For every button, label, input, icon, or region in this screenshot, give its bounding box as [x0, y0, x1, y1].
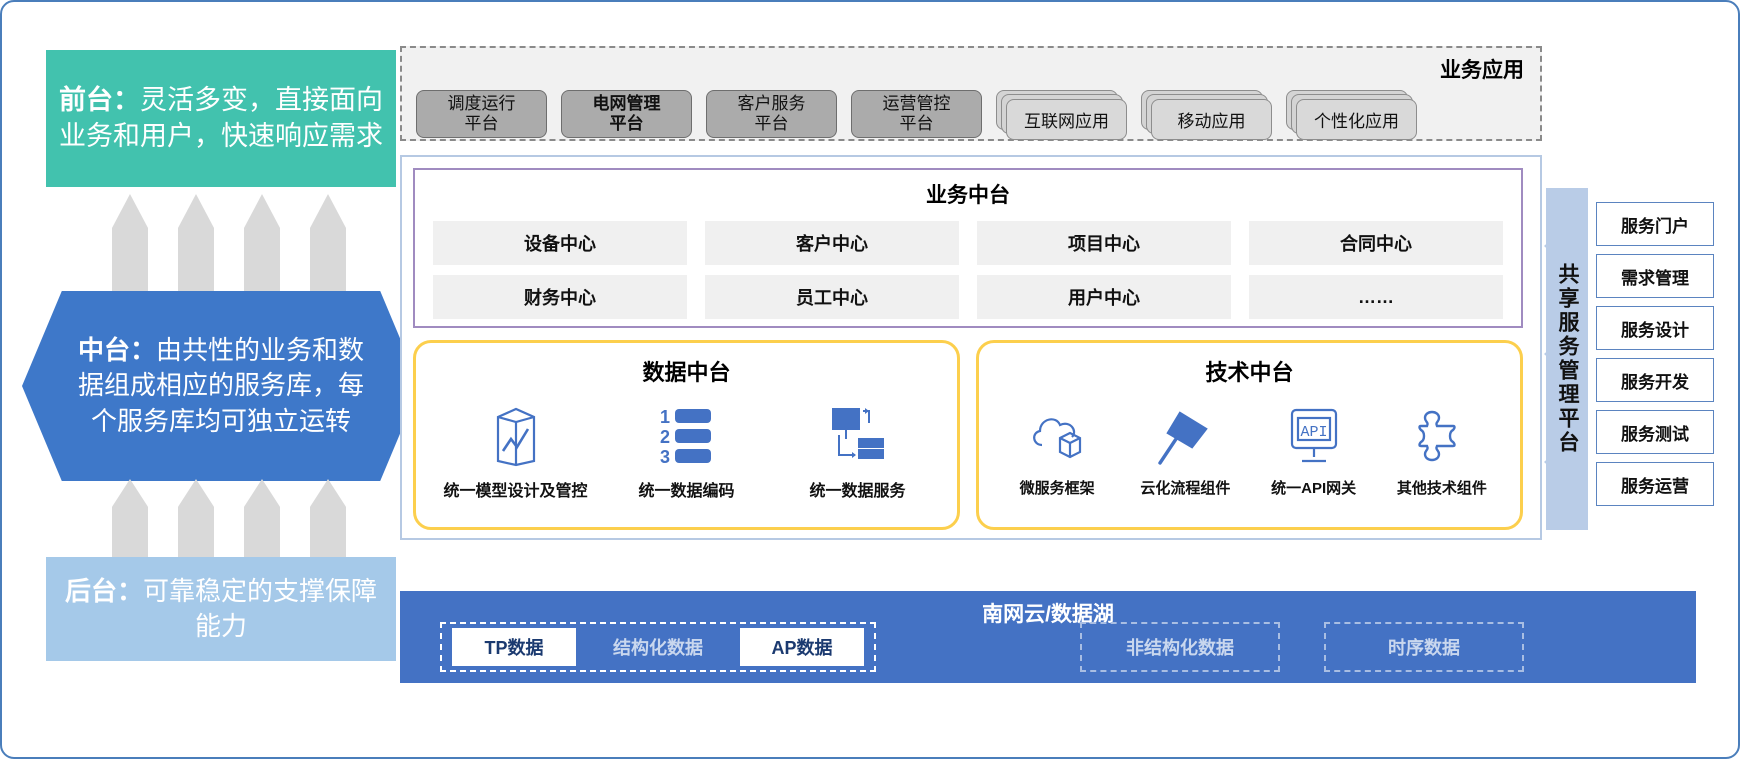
tech-item-process[interactable]: 云化流程组件: [1128, 401, 1243, 498]
up-arrow-icon: [244, 479, 280, 561]
left-column: 前台：灵活多变，直接面向业务和用户，快速响应需求 中台：由共性的业务和数据组成相…: [46, 42, 396, 722]
app-chip-line2: 平台: [593, 114, 661, 134]
data-middle-title: 数据中台: [416, 355, 957, 387]
tech-item-label: 统一API网关: [1271, 477, 1356, 498]
stack-layer-front: 移动应用: [1151, 99, 1272, 140]
svg-text:1: 1: [660, 407, 670, 427]
up-arrow-icon: [310, 479, 346, 561]
tech-item-label: 云化流程组件: [1140, 477, 1230, 498]
front-stage-box: 前台：灵活多变，直接面向业务和用户，快速响应需求: [46, 50, 396, 187]
app-chip-line1: 调度运行: [448, 94, 516, 114]
shared-service-platform-label: 共享服务管理平台: [1552, 263, 1582, 455]
data-chip-ap[interactable]: AP数据: [740, 628, 864, 666]
up-arrow-icon: [244, 194, 280, 294]
back-stage-text: 可靠稳定的支撑保障能力: [143, 576, 377, 641]
numbered-list-icon: 1 2 3: [658, 401, 716, 471]
app-chip-dispatch[interactable]: 调度运行 平台: [416, 90, 547, 138]
app-chip-line2: 平台: [883, 114, 951, 134]
data-item-model[interactable]: 统一模型设计及管控: [451, 401, 581, 501]
data-item-label: 统一数据服务: [809, 477, 905, 501]
app-stack-mobile[interactable]: 移动应用: [1141, 90, 1272, 142]
back-stage-box: 后台：可靠稳定的支撑保障能力: [46, 557, 396, 661]
svg-text:3: 3: [660, 447, 670, 467]
biz-cell-more[interactable]: ……: [1249, 275, 1503, 319]
up-arrow-icon: [310, 194, 346, 294]
service-item-development[interactable]: 服务开发: [1596, 358, 1714, 402]
data-middle-card: 数据中台 统一模型设计及管控: [413, 340, 960, 530]
cloud-cube-icon: [1026, 401, 1088, 471]
shared-service-list: 服务门户 需求管理 服务设计 服务开发 服务测试 服务运营: [1596, 202, 1714, 506]
data-item-label: 统一数据编码: [638, 477, 734, 501]
data-item-label: 统一模型设计及管控: [444, 477, 588, 501]
data-chip-timeseries[interactable]: 时序数据: [1324, 622, 1524, 672]
tech-item-label: 其他技术组件: [1397, 477, 1487, 498]
middle-stage-hexagon: 中台：由共性的业务和数据组成相应的服务库，每个服务库均可独立运转: [22, 291, 420, 481]
app-stack-personalized[interactable]: 个性化应用: [1286, 90, 1417, 142]
diagram-canvas: 前台：灵活多变，直接面向业务和用户，快速响应需求 中台：由共性的业务和数据组成相…: [0, 0, 1740, 759]
middle-cards-row: 数据中台 统一模型设计及管控: [413, 340, 1523, 530]
shared-service-platform-band: 共享服务管理平台: [1546, 188, 1588, 530]
app-chip-line1: 电网管理: [593, 94, 661, 114]
data-middle-icons: 统一模型设计及管控 1 2 3: [416, 401, 957, 501]
data-item-coding[interactable]: 1 2 3 统一数据编码: [622, 401, 752, 501]
tech-item-other[interactable]: 其他技术组件: [1384, 401, 1499, 498]
business-applications-title: 业务应用: [1440, 54, 1524, 84]
service-item-operations[interactable]: 服务运营: [1596, 462, 1714, 506]
data-chip-structured[interactable]: 结构化数据: [596, 628, 720, 666]
biz-cell-user[interactable]: 用户中心: [977, 275, 1231, 319]
tech-middle-icons: 微服务框架 云化流程组件: [979, 401, 1520, 498]
biz-cell-equipment[interactable]: 设备中心: [433, 221, 687, 265]
service-item-requirements[interactable]: 需求管理: [1596, 254, 1714, 298]
stack-layer-front: 个性化应用: [1296, 99, 1417, 140]
middle-platform-container: 业务中台 设备中心 客户中心 项目中心 合同中心 财务中心 员工中心 用户中心 …: [400, 155, 1542, 540]
tech-item-microservice[interactable]: 微服务框架: [1000, 401, 1115, 498]
service-item-portal[interactable]: 服务门户: [1596, 202, 1714, 246]
data-chip-tp[interactable]: TP数据: [452, 628, 576, 666]
front-stage-label: 前台：: [59, 85, 140, 115]
app-chip-line1: 运营管控: [883, 94, 951, 114]
app-chip-customer-service[interactable]: 客户服务 平台: [706, 90, 837, 138]
structured-data-group: TP数据 结构化数据 AP数据: [440, 622, 876, 672]
service-item-testing[interactable]: 服务测试: [1596, 410, 1714, 454]
tech-middle-title: 技术中台: [979, 355, 1520, 387]
data-item-service[interactable]: 统一数据服务: [793, 401, 923, 501]
app-chip-grid-management[interactable]: 电网管理 平台: [561, 90, 692, 138]
svg-text:API: API: [1300, 424, 1327, 441]
cloud-data-lake-band: 南网云/数据湖 TP数据 结构化数据 AP数据 非结构化数据 时序数据: [400, 591, 1696, 683]
business-applications-band: 业务应用 调度运行 平台 电网管理 平台 客户服务: [400, 46, 1542, 141]
up-arrow-icon: [112, 479, 148, 561]
service-item-design[interactable]: 服务设计: [1596, 306, 1714, 350]
biz-cell-finance[interactable]: 财务中心: [433, 275, 687, 319]
business-middle-title: 业务中台: [415, 179, 1521, 209]
puzzle-icon: [1413, 401, 1471, 471]
up-arrow-icon: [178, 479, 214, 561]
up-arrow-icon: [178, 194, 214, 294]
tech-item-api[interactable]: API 统一API网关: [1256, 401, 1371, 498]
pin-icon: [1156, 401, 1214, 471]
app-chip-line1: 客户服务: [738, 94, 806, 114]
api-monitor-icon: API: [1286, 401, 1342, 471]
model-box-chart-icon: [490, 401, 542, 471]
middle-stage-label: 中台：: [78, 335, 156, 365]
data-chip-unstructured[interactable]: 非结构化数据: [1080, 622, 1280, 672]
up-arrow-icon: [112, 194, 148, 294]
biz-cell-contract[interactable]: 合同中心: [1249, 221, 1503, 265]
svg-text:2: 2: [660, 427, 670, 447]
app-chip-line2: 平台: [738, 114, 806, 134]
biz-cell-project[interactable]: 项目中心: [977, 221, 1231, 265]
app-chip-line2: 平台: [448, 114, 516, 134]
right-column: 业务应用 调度运行 平台 电网管理 平台 客户服务: [400, 46, 1696, 540]
tech-item-label: 微服务框架: [1020, 477, 1095, 498]
business-middle-panel: 业务中台 设备中心 客户中心 项目中心 合同中心 财务中心 员工中心 用户中心 …: [413, 168, 1523, 328]
business-middle-grid: 设备中心 客户中心 项目中心 合同中心 财务中心 员工中心 用户中心 ……: [415, 209, 1521, 319]
app-stack-internet[interactable]: 互联网应用: [996, 90, 1127, 142]
app-chip-operations-control[interactable]: 运营管控 平台: [851, 90, 982, 138]
tech-middle-card: 技术中台 微服务框架: [976, 340, 1523, 530]
biz-cell-employee[interactable]: 员工中心: [705, 275, 959, 319]
business-applications-row: 调度运行 平台 电网管理 平台 客户服务 平台: [416, 90, 1417, 142]
server-flow-icon: [829, 401, 887, 471]
back-stage-label: 后台：: [65, 576, 143, 606]
biz-cell-customer[interactable]: 客户中心: [705, 221, 959, 265]
stack-layer-front: 互联网应用: [1006, 99, 1127, 140]
